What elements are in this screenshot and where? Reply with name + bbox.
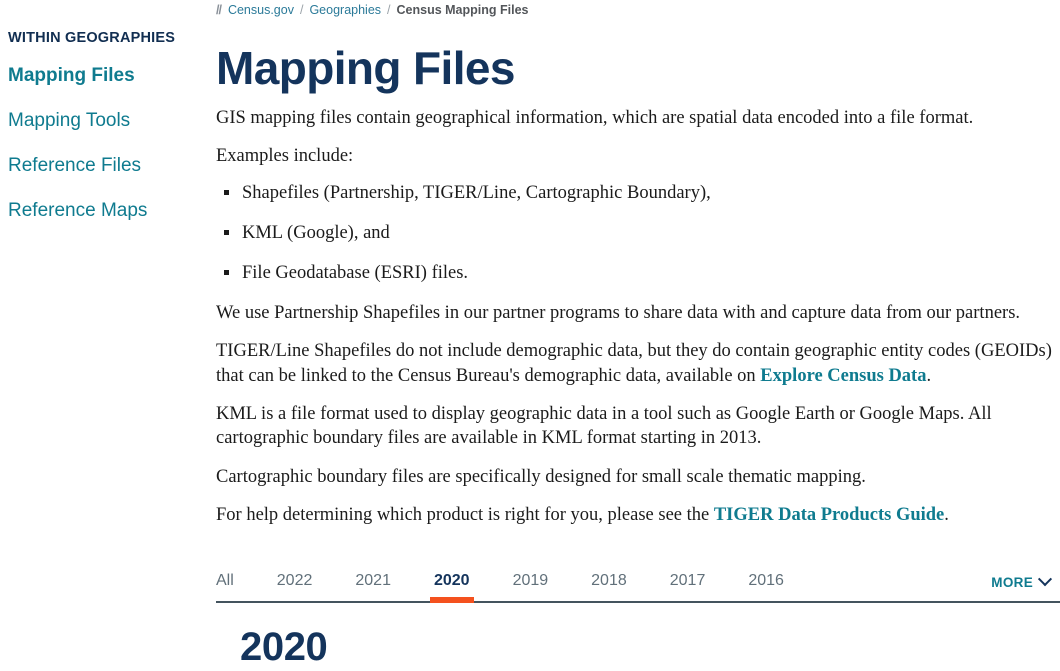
tiger-line-text-tail: . xyxy=(926,366,931,386)
tab-2017[interactable]: 2017 xyxy=(670,572,706,601)
help-text-lead: For help determining which product is ri… xyxy=(216,505,714,525)
tab-all[interactable]: All xyxy=(216,572,234,601)
tab-2019[interactable]: 2019 xyxy=(513,572,549,601)
sidebar-item-reference-maps[interactable]: Reference Maps xyxy=(0,200,200,222)
sidebar: WITHIN GEOGRAPHIES Mapping Files Mapping… xyxy=(0,0,200,245)
year-tabs-bar: All 2022 2021 2020 2019 2018 2017 2016 M… xyxy=(216,559,1060,603)
tab-2022[interactable]: 2022 xyxy=(277,572,313,601)
page-root: WITHIN GEOGRAPHIES Mapping Files Mapping… xyxy=(0,0,1060,671)
paragraph-examples-label: Examples include: xyxy=(216,144,1060,168)
sidebar-item-mapping-files[interactable]: Mapping Files xyxy=(0,65,200,87)
article-body: GIS mapping files contain geographical i… xyxy=(216,106,1060,528)
more-button-label: MORE xyxy=(991,575,1033,590)
chevron-down-icon xyxy=(1038,572,1052,586)
breadcrumb-link-census-gov[interactable]: Census.gov xyxy=(228,3,294,17)
breadcrumb-separator: / xyxy=(387,3,390,17)
year-tabs: All 2022 2021 2020 2019 2018 2017 2016 xyxy=(216,559,1060,601)
breadcrumb-current: Census Mapping Files xyxy=(397,3,529,17)
breadcrumb-prefix: // xyxy=(216,3,221,17)
page-title: Mapping Files xyxy=(216,44,1060,92)
paragraph-partnership: We use Partnership Shapefiles in our par… xyxy=(216,301,1060,325)
breadcrumb-link-geographies[interactable]: Geographies xyxy=(309,3,381,17)
year-section-heading: 2020 xyxy=(240,625,1060,669)
explore-census-data-link[interactable]: Explore Census Data xyxy=(760,366,926,386)
paragraph-kml: KML is a file format used to display geo… xyxy=(216,402,1060,451)
examples-list: Shapefiles (Partnership, TIGER/Line, Car… xyxy=(216,181,1060,285)
paragraph-intro: GIS mapping files contain geographical i… xyxy=(216,106,1060,130)
list-item: Shapefiles (Partnership, TIGER/Line, Car… xyxy=(216,181,1060,205)
list-item: KML (Google), and xyxy=(216,221,1060,245)
paragraph-tiger-line: TIGER/Line Shapefiles do not include dem… xyxy=(216,339,1060,388)
tiger-data-products-guide-link[interactable]: TIGER Data Products Guide xyxy=(714,505,944,525)
help-text-tail: . xyxy=(944,505,949,525)
paragraph-cartographic: Cartographic boundary files are specific… xyxy=(216,465,1060,489)
sidebar-item-mapping-tools[interactable]: Mapping Tools xyxy=(0,110,200,132)
tab-2016[interactable]: 2016 xyxy=(748,572,784,601)
list-item: File Geodatabase (ESRI) files. xyxy=(216,261,1060,285)
breadcrumb-separator: / xyxy=(300,3,303,17)
tab-2018[interactable]: 2018 xyxy=(591,572,627,601)
sidebar-heading: WITHIN GEOGRAPHIES xyxy=(0,30,200,47)
sidebar-item-reference-files[interactable]: Reference Files xyxy=(0,155,200,177)
tab-2020[interactable]: 2020 xyxy=(434,572,470,601)
tab-2021[interactable]: 2021 xyxy=(355,572,391,601)
paragraph-help: For help determining which product is ri… xyxy=(216,503,1060,527)
more-button[interactable]: MORE xyxy=(991,575,1050,590)
main-content: //Census.gov/Geographies/Census Mapping … xyxy=(216,0,1060,669)
breadcrumb: //Census.gov/Geographies/Census Mapping … xyxy=(216,0,1060,17)
